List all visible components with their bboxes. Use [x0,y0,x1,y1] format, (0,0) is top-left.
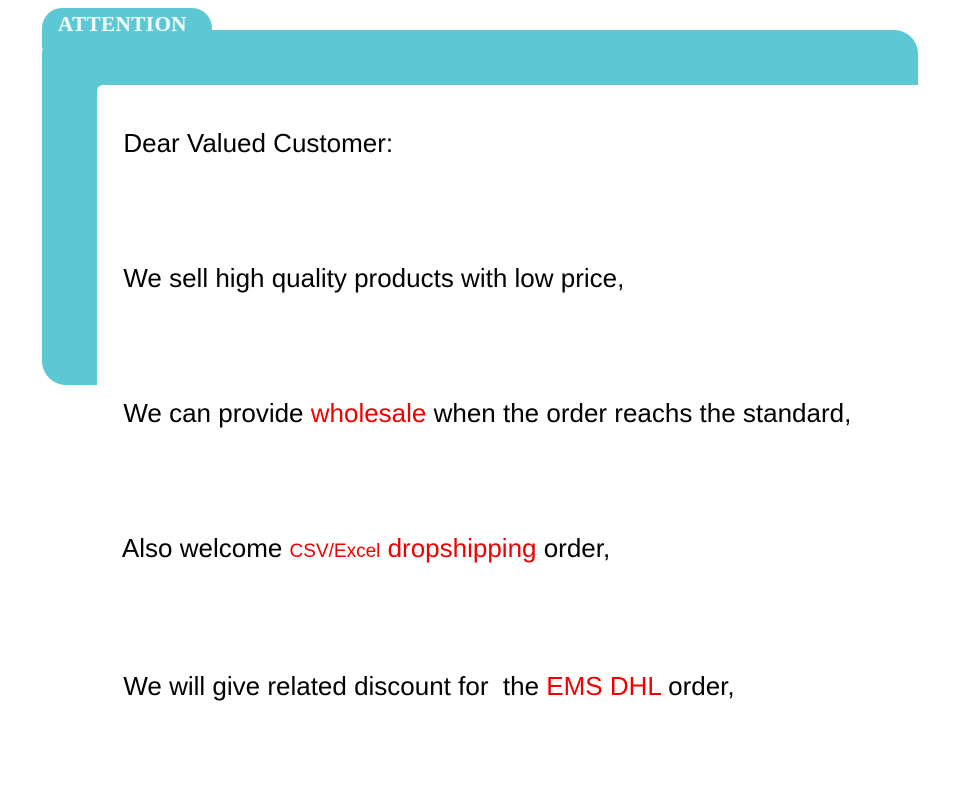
message-line-dropshipping: Also welcome CSV/Excel dropshipping orde… [80,481,880,619]
attention-banner: ATTENTION Dear Valued Customer: We sell … [0,0,960,400]
wholesale-suffix-text: when the order reachs the standard, [426,398,851,428]
discount-suffix-text: order, [661,671,735,701]
message-line-wholesale: We can provide wholesale when the order … [80,346,880,481]
attention-tab-label: ATTENTION [58,12,187,37]
wholesale-prefix-text: We can provide [123,398,310,428]
message-line-greeting: Dear Valued Customer: [80,76,880,211]
discount-prefix-text: We will give related discount for the [123,671,546,701]
message-line-greeting-text: Dear Valued Customer: [123,128,393,158]
dropshipping-prefix-text: Also welcome [122,533,290,563]
dropshipping-highlight: dropshipping [388,533,537,563]
message-line-shipping-discount: We will give related discount for the EM… [80,619,880,754]
dropshipping-gap-text [380,533,387,563]
message-line-quality-text: We sell high quality products with low p… [123,263,624,293]
ems-dhl-highlight: EMS DHL [546,671,661,701]
message-line-thanks: Thank you! [80,754,880,800]
banner-message-body: Dear Valued Customer: We sell high quali… [80,76,880,800]
message-line-quality: We sell high quality products with low p… [80,211,880,346]
dropshipping-suffix-text: order, [536,533,610,563]
csv-excel-highlight: CSV/Excel [290,541,381,562]
wholesale-highlight: wholesale [311,398,427,428]
